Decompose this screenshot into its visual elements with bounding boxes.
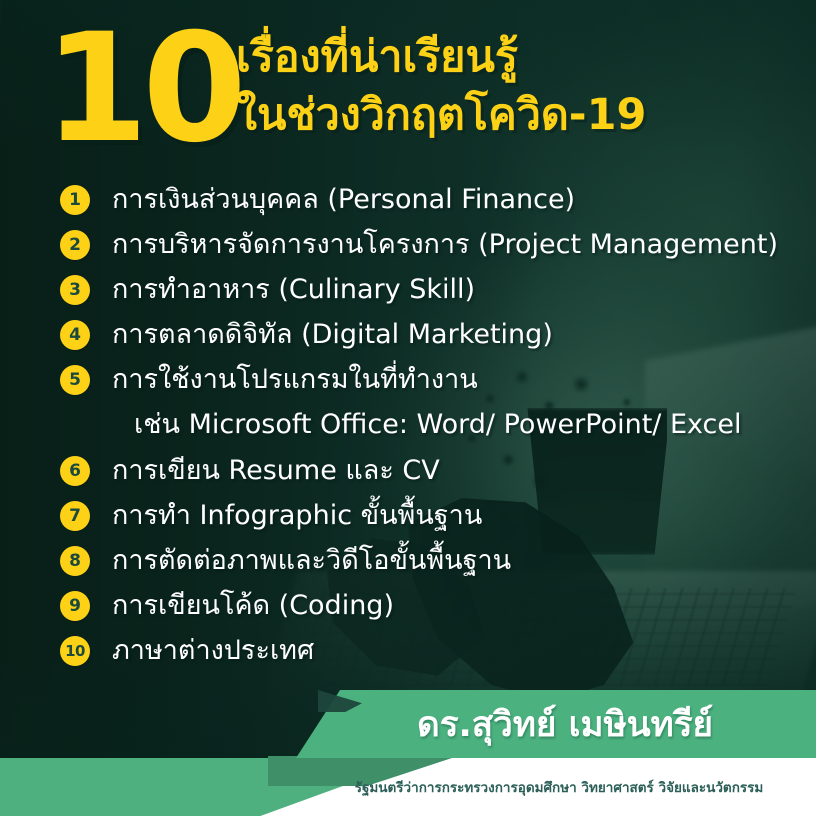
- list-item-label: การตัดต่อภาพและวิดีโอขั้นพื้นฐาน: [112, 541, 511, 581]
- list-item: 3 การทำอาหาร (Culinary Skill): [0, 270, 816, 315]
- list-item-badge: 1: [60, 185, 90, 215]
- list-item-badge: 7: [60, 501, 90, 531]
- speaker-role: รัฐมนตรีว่าการกระทรวงการอุดมศึกษา วิทยาศ…: [316, 758, 802, 816]
- list-item-label: การใช้งานโปรแกรมในที่ทำงาน: [112, 360, 478, 400]
- list-item: 8 การตัดต่อภาพและวิดีโอขั้นพื้นฐาน: [0, 541, 816, 586]
- list-item-label: การตลาดดิจิทัล (Digital Marketing): [112, 315, 553, 355]
- list-item-label: การบริหารจัดการงานโครงการ (Project Manag…: [112, 225, 778, 265]
- list-item-continuation: เช่น Microsoft Office: Word/ PowerPoint/…: [0, 405, 816, 451]
- speaker-name: ดร.สุวิทย์ เมษินทรีย์: [330, 690, 800, 758]
- list-item: 5 การใช้งานโปรแกรมในที่ทำงาน: [0, 360, 816, 405]
- list-item-label: การเขียนโค้ด (Coding): [112, 586, 394, 626]
- list-item: 9 การเขียนโค้ด (Coding): [0, 586, 816, 631]
- list-item-badge: 5: [60, 365, 90, 395]
- list-item: 4 การตลาดดิจิทัล (Digital Marketing): [0, 315, 816, 360]
- list-item-label: การทำอาหาร (Culinary Skill): [112, 270, 475, 310]
- footer-block: ดร.สุวิทย์ เมษินทรีย์ รัฐมนตรีว่าการกระท…: [0, 676, 816, 816]
- list-item-badge: 3: [60, 275, 90, 305]
- headline-title: เรื่องที่น่าเรียนรู้ ในช่วงวิกฤตโควิด-19: [236, 28, 806, 144]
- headline-number: 10: [44, 14, 241, 164]
- poster-content: 10 เรื่องที่น่าเรียนรู้ ในช่วงวิกฤตโควิด…: [0, 0, 816, 816]
- list-item-label: การทำ Infographic ขั้นพื้นฐาน: [112, 496, 482, 536]
- headline-title-line-1: เรื่องที่น่าเรียนรู้: [236, 28, 806, 86]
- list-item-badge: 9: [60, 591, 90, 621]
- list-item-badge: 8: [60, 546, 90, 576]
- list-item: 1 การเงินส่วนบุคคล (Personal Finance): [0, 180, 816, 225]
- infographic-poster: 10 เรื่องที่น่าเรียนรู้ ในช่วงวิกฤตโควิด…: [0, 0, 816, 816]
- list-item-badge: 4: [60, 320, 90, 350]
- list-item: 2 การบริหารจัดการงานโครงการ (Project Man…: [0, 225, 816, 270]
- topic-list: 1 การเงินส่วนบุคคล (Personal Finance) 2 …: [0, 180, 816, 676]
- list-item-badge: 2: [60, 230, 90, 260]
- list-item-continuation-label: เช่น Microsoft Office: Word/ PowerPoint/…: [134, 405, 742, 445]
- list-item: 10 ภาษาต่างประเทศ: [0, 631, 816, 676]
- list-item-label: การเงินส่วนบุคคล (Personal Finance): [112, 180, 575, 220]
- list-item: 7 การทำ Infographic ขั้นพื้นฐาน: [0, 496, 816, 541]
- list-item-label: การเขียน Resume และ CV: [112, 451, 440, 491]
- headline-title-line-2: ในช่วงวิกฤตโควิด-19: [236, 86, 806, 144]
- list-item-badge: 6: [60, 456, 90, 486]
- list-item: 6 การเขียน Resume และ CV: [0, 451, 816, 496]
- list-item-badge: 10: [60, 636, 90, 666]
- headline-block: 10 เรื่องที่น่าเรียนรู้ ในช่วงวิกฤตโควิด…: [0, 8, 816, 184]
- list-item-label: ภาษาต่างประเทศ: [112, 631, 314, 671]
